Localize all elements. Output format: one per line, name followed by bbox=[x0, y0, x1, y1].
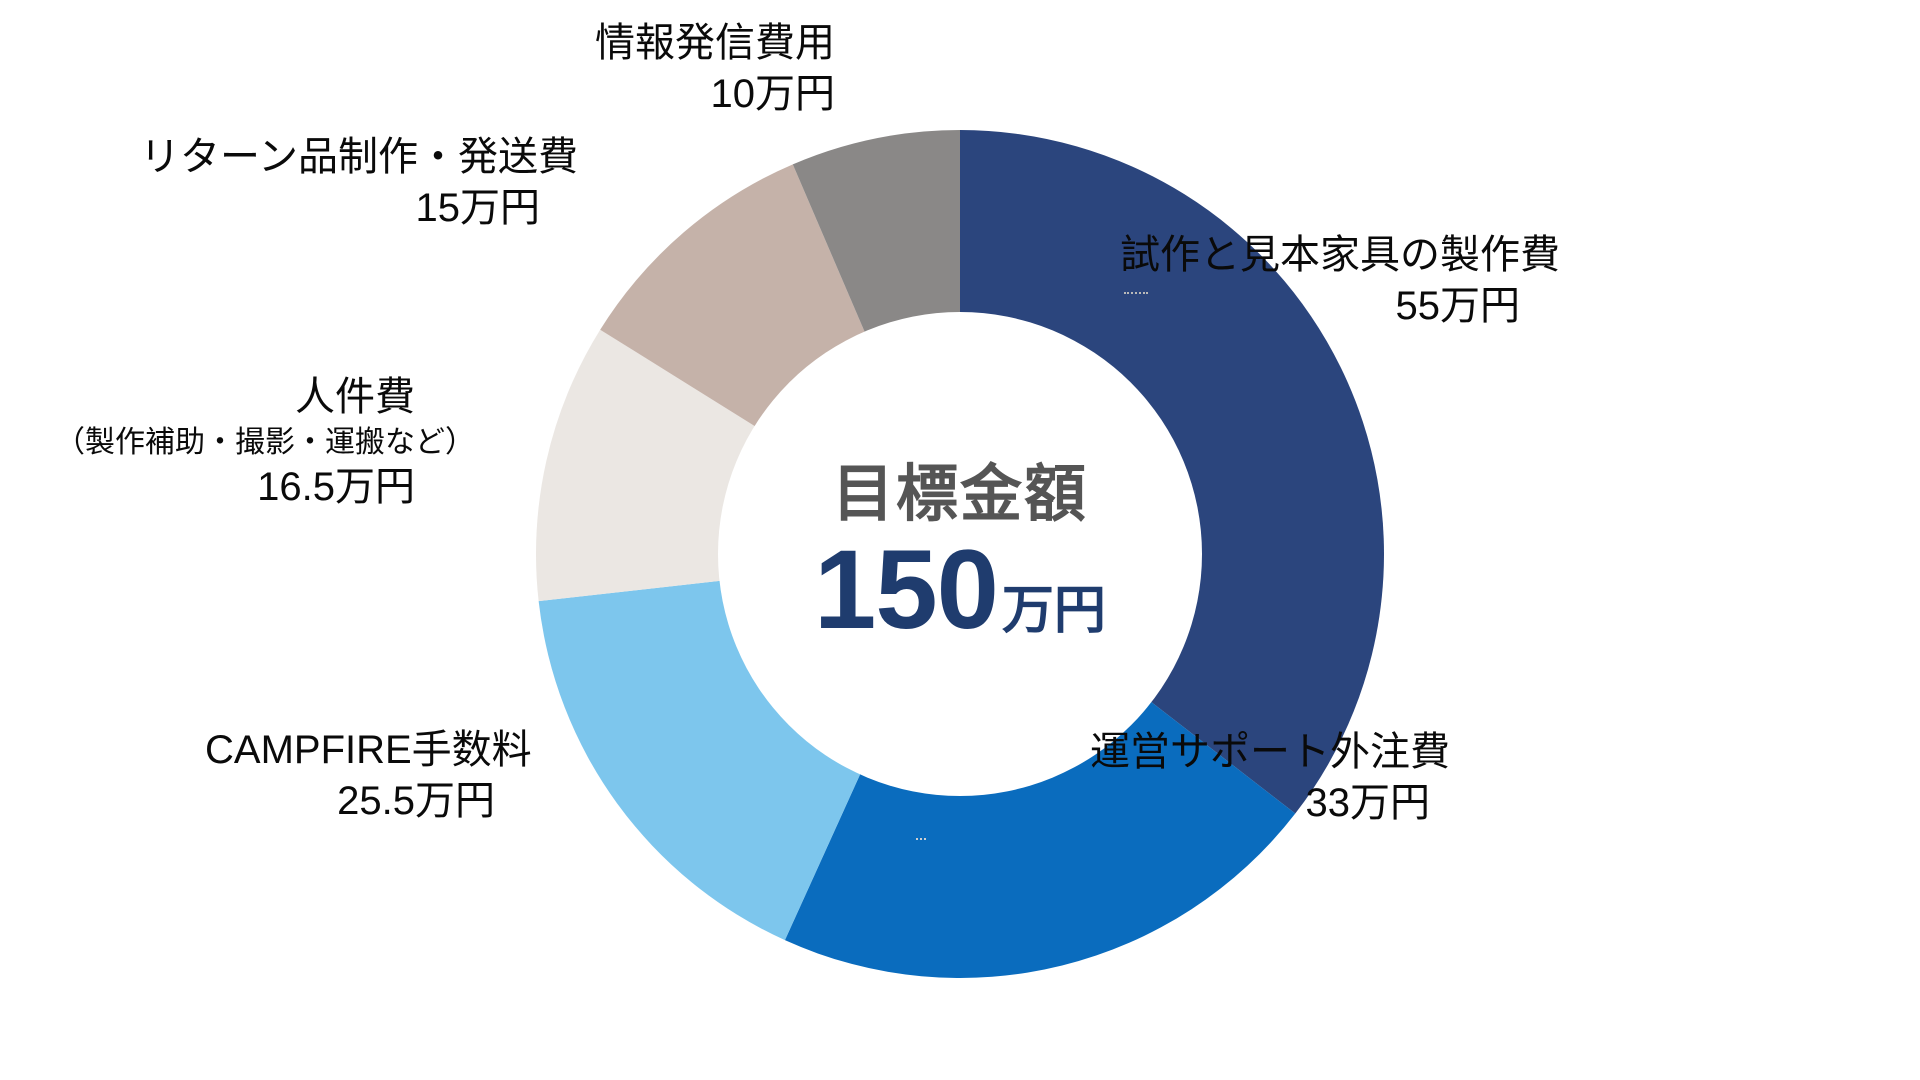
slice-label-return: リターン品制作・発送費 15万円 bbox=[140, 132, 540, 234]
slice-label-campfire-name: CAMPFIRE手数料 bbox=[205, 725, 495, 776]
slice-label-campfire: CAMPFIRE手数料 25.5万円 bbox=[205, 725, 495, 827]
slice-label-jinkenhi: 人件費 （製作補助・撮影・運搬など） 16.5万円 bbox=[55, 372, 415, 513]
slice-label-jinkenhi-amount: 16.5万円 bbox=[55, 462, 415, 513]
slice-label-unei-amount: 33万円 bbox=[1090, 778, 1430, 829]
slice-label-jinkenhi-sub: （製作補助・撮影・運搬など） bbox=[55, 423, 415, 462]
slice-label-campfire-amount: 25.5万円 bbox=[205, 776, 495, 827]
slice-label-return-name: リターン品制作・発送費 bbox=[140, 132, 540, 183]
leader-line-bottom bbox=[916, 838, 926, 840]
slice-label-joho-name: 情報発信費用 bbox=[535, 18, 835, 69]
slice-label-jinkenhi-name: 人件費 bbox=[55, 372, 415, 423]
slice-label-shisaku-name: 試作と見本家具の製作費 bbox=[1120, 230, 1520, 281]
slice-label-shisaku-amount: 55万円 bbox=[1120, 281, 1520, 332]
slice-label-return-amount: 15万円 bbox=[140, 183, 540, 234]
slice-label-shisaku: 試作と見本家具の製作費 55万円 bbox=[1120, 230, 1520, 332]
slice-label-joho-amount: 10万円 bbox=[535, 69, 835, 120]
slice-label-unei: 運営サポート外注費 33万円 bbox=[1090, 727, 1430, 829]
donut-hole bbox=[718, 312, 1202, 796]
slice-label-joho: 情報発信費用 10万円 bbox=[535, 18, 835, 120]
slice-label-unei-name: 運営サポート外注費 bbox=[1090, 727, 1430, 778]
chart-canvas: 目標金額 150 万円 情報発信費用 10万円 リターン品制作・発送費 15万円… bbox=[0, 0, 1920, 1080]
